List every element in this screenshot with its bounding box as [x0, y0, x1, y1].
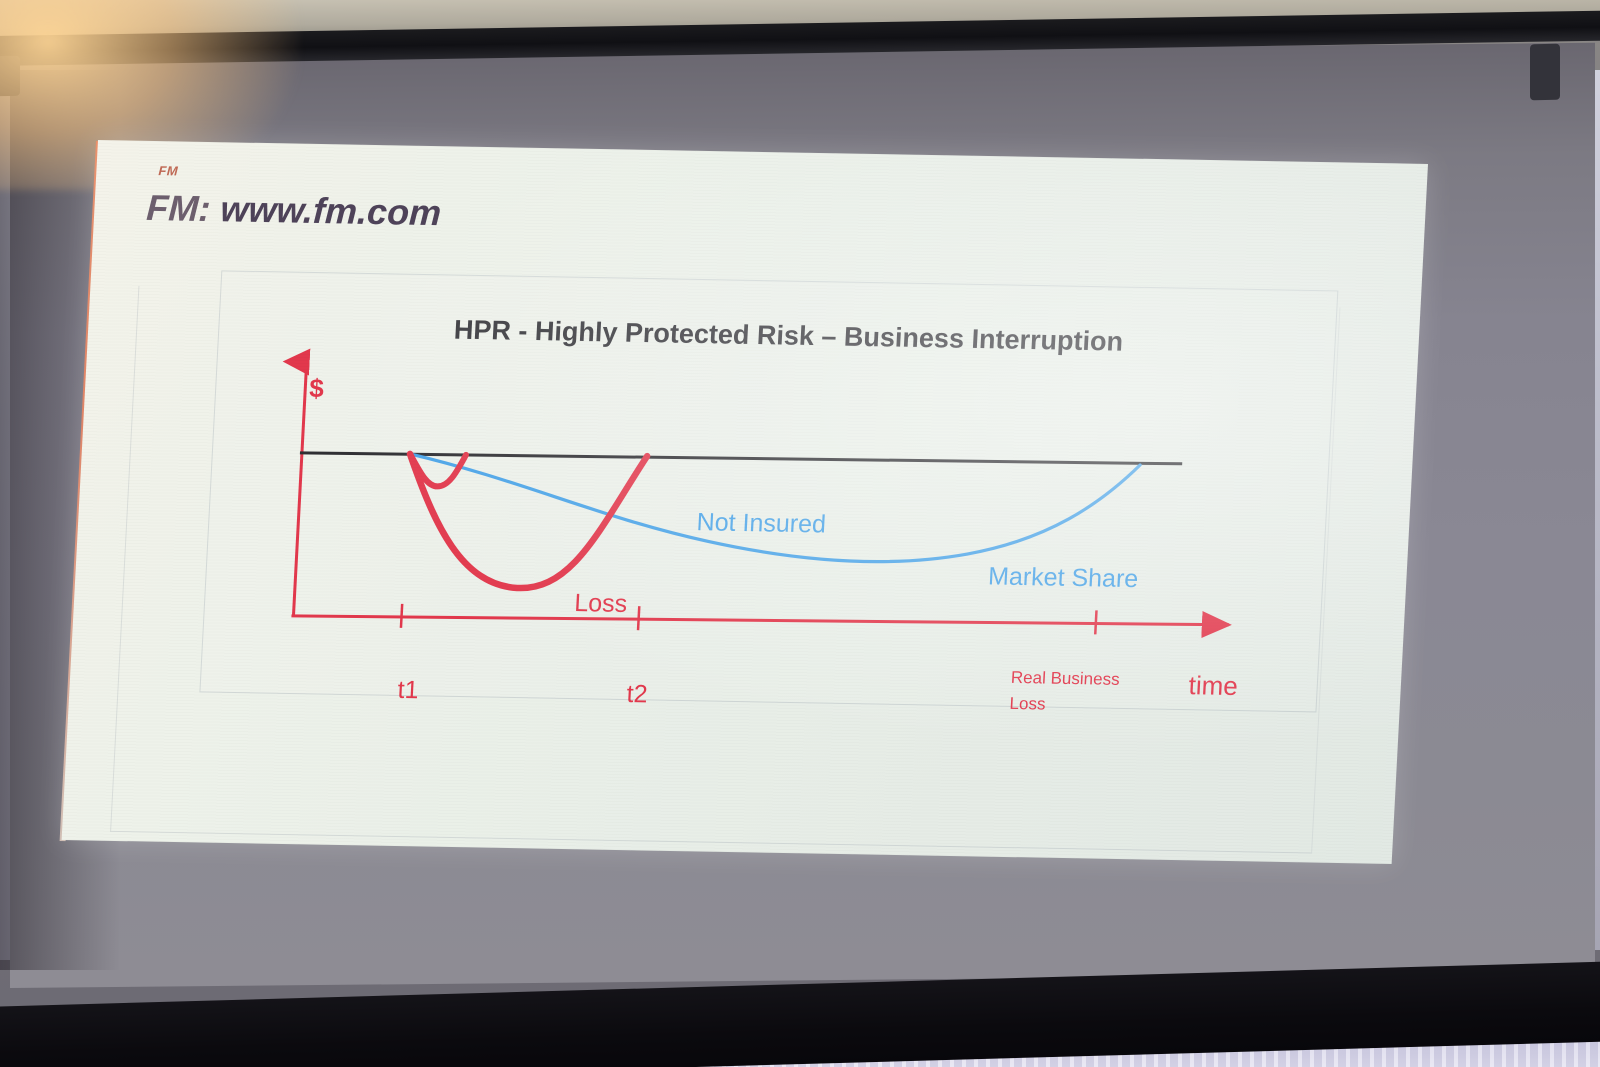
screenshot-stage: FM FM: www.fm.com HPR - Highly Protected… — [0, 0, 1600, 1067]
x-tick-label-t2: t2 — [626, 680, 648, 709]
x-tick-real-business-loss — [1095, 610, 1096, 634]
y-axis-line — [293, 362, 306, 616]
y-axis-label: $ — [308, 373, 324, 404]
annotation-loss: Loss — [574, 589, 628, 619]
chart-canvas — [226, 343, 1308, 782]
fm-logo-mark: FM — [158, 163, 179, 178]
slide-header-domain: www.fm.com — [219, 188, 442, 233]
annotation-real-business-loss-line1: Real Business — [1010, 665, 1120, 692]
slide-header-prefix: FM: — [145, 187, 211, 229]
x-axis-line — [291, 608, 1228, 633]
x-tick-label-t1: t1 — [397, 676, 419, 705]
presentation-slide: FM FM: www.fm.com HPR - Highly Protected… — [62, 140, 1428, 864]
x-axis-label: time — [1188, 670, 1239, 702]
annotation-real-business-loss-line2: Loss — [1009, 690, 1119, 717]
x-tick-t1 — [401, 604, 402, 628]
annotation-real-business-loss: Real Business Loss — [1009, 665, 1120, 718]
loss-curve-main-dip — [403, 452, 647, 590]
x-tick-t2 — [638, 606, 639, 630]
annotation-market-share: Market Share — [987, 562, 1139, 594]
slide-header-title: FM: www.fm.com — [145, 187, 442, 234]
projected-slide-wrapper: FM FM: www.fm.com HPR - Highly Protected… — [0, 0, 1600, 1067]
annotation-not-insured: Not Insured — [696, 508, 827, 539]
